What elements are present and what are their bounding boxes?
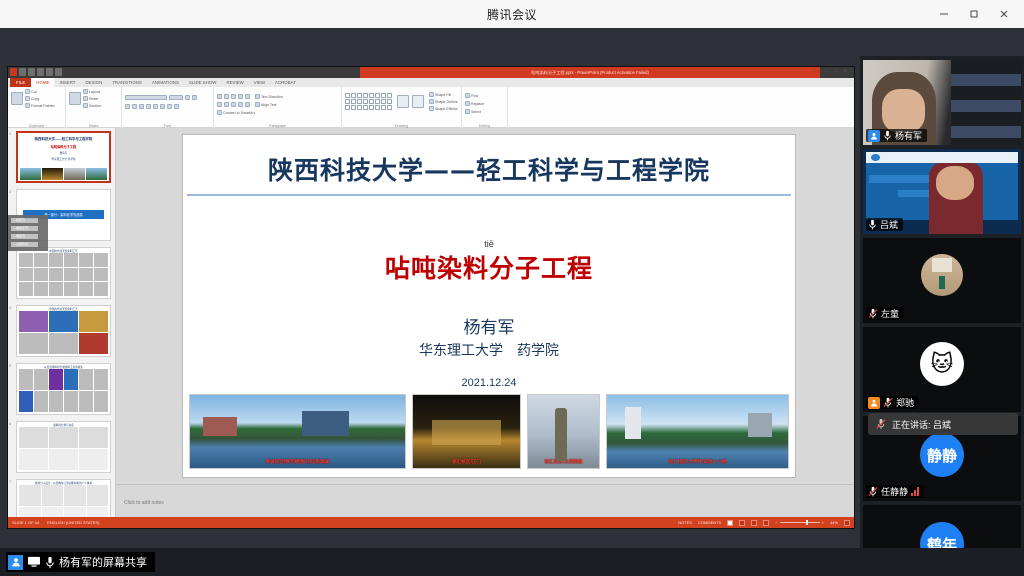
avatar: 静静	[920, 433, 964, 477]
window-controls	[930, 0, 1018, 28]
thumb-content-3	[19, 253, 108, 296]
start-slideshow-icon[interactable]	[46, 68, 53, 76]
tab-home[interactable]: HOME	[31, 78, 54, 87]
speaking-toast-text: 正在讲话: 吕斌	[892, 418, 951, 431]
print-icon[interactable]	[55, 68, 62, 76]
zoom-in-button[interactable]: +	[822, 520, 824, 525]
tab-review[interactable]: REVIEW	[221, 78, 248, 87]
participant-tile-lubin[interactable]: 吕斌	[863, 149, 1021, 234]
convert-to-smartart-command[interactable]: Convert to SmartArt	[217, 110, 255, 115]
view-normal-button[interactable]	[727, 520, 733, 526]
participant-name: 吕斌	[880, 218, 898, 231]
align-text-command[interactable]: Align Text	[255, 102, 277, 107]
section-context-menu[interactable]: 新建节 重命名节 删除节 全部折叠	[8, 215, 48, 251]
zoom-out-button[interactable]: −	[775, 520, 777, 525]
shape-fill-command[interactable]: Shape Fill	[429, 92, 458, 97]
line-spacing-icon[interactable]	[245, 94, 250, 99]
ribbon-group-editing: Find Replace Select Editing	[462, 87, 508, 128]
thumb-content-6	[19, 427, 108, 470]
ppt-logo-icon	[10, 68, 17, 76]
participant-name: 杨有军	[895, 129, 922, 142]
close-button[interactable]	[990, 3, 1018, 25]
cohost-badge-icon	[868, 397, 880, 409]
increase-font-icon[interactable]	[185, 95, 190, 100]
format-painter-command[interactable]: Format Painter	[25, 103, 55, 108]
tab-transitions[interactable]: TRANSITIONS	[107, 78, 147, 87]
tab-animations[interactable]: ANIMATIONS	[147, 78, 184, 87]
font-size-box[interactable]	[169, 95, 183, 100]
participant-rail[interactable]: 杨有军 吕斌	[860, 56, 1024, 576]
new-slide-icon[interactable]	[69, 92, 81, 105]
tab-file[interactable]: FILE	[10, 78, 31, 87]
slide-thumbnail-3[interactable]: 3 中国古代的天然染料工艺	[12, 247, 111, 299]
slide-divider	[187, 194, 791, 196]
thumb-content-5	[19, 369, 108, 412]
powerpoint-status-bar: SLIDE 1 OF 44 ENGLISH (UNITED STATES) NO…	[8, 517, 854, 528]
save-icon[interactable]	[19, 68, 26, 76]
notes-toggle-button[interactable]: NOTES	[678, 520, 692, 525]
participant-name: 郑驰	[896, 396, 914, 409]
participant-tile-yangyoujun[interactable]: 杨有军	[863, 60, 1021, 145]
powerpoint-window-controls[interactable]: ? ― □ ✕	[814, 68, 850, 73]
slide-thumbnail-6[interactable]: 6 染料的分类与命名	[12, 421, 111, 473]
powerpoint-document-title: 呫吨染料分子工程.pptx - PowerPoint (Product Acti…	[360, 67, 820, 78]
ribbon-group-slides: Layout Reset Section Slides	[66, 87, 122, 128]
quick-access-toolbar[interactable]	[10, 68, 62, 76]
view-slide-sorter-button[interactable]	[739, 520, 745, 526]
strikethrough-icon[interactable]	[153, 104, 158, 109]
align-left-icon[interactable]	[217, 102, 222, 107]
photo-caption-3: 徐汇校区/主席塑像	[528, 459, 598, 465]
redo-icon[interactable]	[37, 68, 44, 76]
shape-effects-command[interactable]: Shape Effects	[429, 106, 458, 111]
slide-thumbnail-4[interactable]: 4 中国古代的天然染料工艺	[12, 305, 111, 357]
slide-pinyin: tiē	[183, 239, 795, 249]
thumb-number-4: 4	[9, 305, 11, 310]
speaking-toast: 正在讲话: 吕斌	[868, 413, 1018, 435]
mic-off-icon	[868, 308, 878, 319]
slide-subtitle: 呫吨染料分子工程	[183, 249, 795, 285]
view-reading-button[interactable]	[751, 520, 757, 526]
text-direction-command[interactable]: Text Direction	[255, 94, 283, 99]
menu-item-remove-section[interactable]: 删除节	[11, 234, 38, 239]
meeting-body: 呫吨染料分子工程.pptx - PowerPoint (Product Acti…	[0, 28, 1024, 548]
participant-tile-zhengchi[interactable]: 🐱 郑驰	[863, 327, 1021, 412]
ribbon-group-drawing: Shape Fill Shape Outline Shape Effects D…	[342, 87, 462, 128]
numbering-icon[interactable]	[224, 94, 229, 99]
thumb-number-1: 1	[9, 131, 11, 136]
powerpoint-title-text: 呫吨染料分子工程.pptx - PowerPoint (Product Acti…	[531, 70, 649, 76]
font-name-box[interactable]	[125, 95, 167, 100]
host-badge-icon	[8, 555, 23, 570]
columns-icon[interactable]	[245, 102, 250, 107]
zoom-slider[interactable]: − +	[775, 520, 824, 525]
ribbon-group-paragraph: Text Direction Align Text Convert to Sma…	[214, 87, 342, 128]
campus-photo-fengxian: 奉贤校区/教学楼/图书馆/思源湖	[189, 394, 406, 469]
participant-name: 任静静	[881, 485, 908, 498]
copy-command[interactable]: Copy	[25, 96, 55, 101]
thumb-content-7	[19, 485, 108, 517]
campus-photo-statue: 徐汇校区/主席塑像	[527, 394, 599, 469]
align-right-icon[interactable]	[231, 102, 236, 107]
slide-thumbnail-pane[interactable]: 1 陕西科技大学——轻工科学与工程学院 呫吨染料分子工程 杨有军 华东理工大学 …	[8, 128, 116, 517]
minimize-button[interactable]	[930, 3, 958, 25]
arrange-icon[interactable]	[397, 95, 409, 108]
slide-title: 陕西科技大学——轻工科学与工程学院	[203, 151, 775, 187]
view-slideshow-button[interactable]	[763, 520, 769, 526]
participant-nametag: 杨有军	[866, 129, 927, 142]
slide-author: 杨有军	[183, 313, 795, 338]
photo-caption-4: 徐汇校区/大草坪/实验十八楼	[607, 459, 788, 465]
bold-icon[interactable]	[125, 104, 130, 109]
screen-share-indicator[interactable]: 杨有军的屏幕共享	[6, 552, 155, 572]
powerpoint-workspace: 1 陕西科技大学——轻工科学与工程学院 呫吨染料分子工程 杨有军 华东理工大学 …	[8, 128, 854, 517]
host-badge-icon	[868, 130, 880, 142]
participant-nametag: 左童	[866, 307, 904, 320]
ribbon-group-clipboard: Cut Copy Format Painter Clipboard	[8, 87, 66, 128]
powerpoint-title-bar: 呫吨染料分子工程.pptx - PowerPoint (Product Acti…	[8, 67, 854, 78]
align-center-icon[interactable]	[224, 102, 229, 107]
slide-edit-pane[interactable]: 陕西科技大学——轻工科学与工程学院 tiē 呫吨染料分子工程 杨有军 华东理工大…	[116, 128, 854, 517]
thumb-number-2: 2	[9, 189, 11, 194]
find-command[interactable]: Find	[465, 93, 504, 98]
thumb-affiliation-1: 华东理工大学 药学院	[18, 157, 109, 161]
slide-thumbnail-7[interactable]: 7 染料分子设计：从结构单元到功能材料的广义体系	[12, 479, 111, 517]
tab-slide-show[interactable]: SLIDE SHOW	[184, 78, 222, 87]
change-case-icon[interactable]	[167, 104, 172, 109]
mic-on-icon	[45, 556, 55, 569]
slide-counter: SLIDE 1 OF 44	[12, 520, 39, 525]
signal-bars-icon	[911, 487, 919, 496]
menu-item-collapse-all[interactable]: 全部折叠	[11, 242, 38, 247]
fit-to-window-button[interactable]	[844, 520, 850, 526]
thumb-title-1: 陕西科技大学——轻工科学与工程学院	[18, 136, 109, 141]
app-title: 腾讯会议	[487, 6, 537, 23]
mic-off-icon	[868, 486, 878, 497]
cut-command[interactable]: Cut	[25, 89, 55, 94]
cat-sticker-icon: 🐱	[931, 351, 954, 377]
mic-off-icon	[883, 397, 893, 408]
participant-nametag: 任静静	[866, 485, 924, 498]
meeting-window: 腾讯会议	[0, 0, 1024, 576]
character-spacing-icon[interactable]	[160, 104, 165, 109]
window-title-bar: 腾讯会议	[0, 0, 1024, 28]
justify-icon[interactable]	[238, 102, 243, 107]
bottom-bar: 杨有军的屏幕共享	[0, 548, 1024, 576]
shape-outline-command[interactable]: Shape Outline	[429, 99, 458, 104]
avatar-initials: 静静	[927, 445, 957, 466]
slide-date: 2021.12.24	[183, 377, 795, 389]
layout-command[interactable]: Layout	[83, 89, 101, 94]
bullets-icon[interactable]	[217, 94, 222, 99]
participant-nametag: 郑驰	[866, 396, 919, 409]
decrease-indent-icon[interactable]	[231, 94, 236, 99]
ribbon-tab-strip[interactable]: FILE HOME INSERT DESIGN TRANSITIONS ANIM…	[8, 78, 854, 87]
screen-share-icon	[27, 556, 41, 568]
zoom-knob[interactable]	[806, 520, 808, 525]
thumb-content-4	[19, 311, 108, 354]
shadow-icon[interactable]	[146, 104, 151, 109]
zoom-level[interactable]: 44%	[830, 520, 838, 525]
undo-icon[interactable]	[28, 68, 35, 76]
participant-name: 左童	[881, 307, 899, 320]
select-command[interactable]: Select	[465, 109, 504, 114]
thumb-number-7: 7	[9, 479, 11, 484]
ribbon-group-font: Font	[122, 87, 214, 128]
tab-insert[interactable]: INSERT	[54, 78, 80, 87]
decrease-font-icon[interactable]	[192, 95, 197, 100]
comments-toggle-button[interactable]: COMMENTS	[698, 520, 721, 525]
reset-command[interactable]: Reset	[83, 96, 101, 101]
underline-icon[interactable]	[139, 104, 144, 109]
tab-view[interactable]: VIEW	[249, 78, 270, 87]
thumb-number-5: 5	[9, 363, 11, 368]
thumb-photo-strip-1	[20, 168, 107, 180]
mic-on-icon	[883, 130, 892, 141]
thumb-subtitle-1: 呫吨染料分子工程	[18, 144, 109, 149]
replace-command[interactable]: Replace	[465, 101, 504, 106]
tab-design[interactable]: DESIGN	[81, 78, 108, 87]
photo-caption-1: 奉贤校区/教学楼/图书馆/思源湖	[190, 459, 405, 465]
campus-photo-lawn: 徐汇校区/大草坪/实验十八楼	[606, 394, 789, 469]
tab-acrobat[interactable]: ACROBAT	[270, 78, 301, 87]
menu-item-rename-section[interactable]: 重命名节	[11, 226, 38, 231]
paste-icon[interactable]	[11, 92, 23, 105]
photo-caption-2: 徐汇校区/正门	[413, 459, 520, 465]
shared-screen-powerpoint[interactable]: 呫吨染料分子工程.pptx - PowerPoint (Product Acti…	[7, 66, 855, 529]
language-indicator[interactable]: ENGLISH (UNITED STATES)	[47, 520, 99, 525]
mic-on-icon	[868, 219, 877, 230]
participant-tile-zuotong[interactable]: 左童	[863, 238, 1021, 323]
increase-indent-icon[interactable]	[238, 94, 243, 99]
share-label: 杨有军的屏幕共享	[59, 554, 147, 570]
slide-thumbnail-5[interactable]: 5 从天然染料到合成染料工业的诞生	[12, 363, 111, 415]
slide-affiliation: 华东理工大学 药学院	[183, 340, 795, 360]
quick-styles-icon[interactable]	[412, 95, 424, 108]
font-color-icon[interactable]	[174, 104, 179, 109]
thumb-author-1: 杨有军	[18, 151, 109, 155]
ribbon[interactable]: Cut Copy Format Painter Clipboard Layout…	[8, 87, 854, 128]
campus-photo-xuhui-gate: 徐汇校区/正门	[412, 394, 521, 469]
slide-photo-row: 奉贤校区/教学楼/图书馆/思源湖 徐汇校区/正门 徐汇校区/主席塑像 徐汇校区/…	[189, 394, 789, 469]
avatar	[921, 254, 963, 296]
maximize-button[interactable]	[960, 3, 988, 25]
avatar: 🐱	[920, 342, 964, 386]
slide-thumbnail-1[interactable]: 1 陕西科技大学——轻工科学与工程学院 呫吨染料分子工程 杨有军 华东理工大学 …	[12, 131, 111, 183]
current-slide[interactable]: 陕西科技大学——轻工科学与工程学院 tiē 呫吨染料分子工程 杨有军 华东理工大…	[182, 134, 796, 478]
shape-gallery[interactable]	[345, 93, 392, 110]
section-command[interactable]: Section	[83, 103, 101, 108]
italic-icon[interactable]	[132, 104, 137, 109]
mic-off-icon	[876, 418, 886, 430]
menu-item-new-section[interactable]: 新建节	[11, 218, 38, 223]
thumb-number-6: 6	[9, 421, 11, 426]
participant-nametag: 吕斌	[866, 218, 903, 231]
notes-placeholder: Click to add notes	[124, 500, 164, 506]
